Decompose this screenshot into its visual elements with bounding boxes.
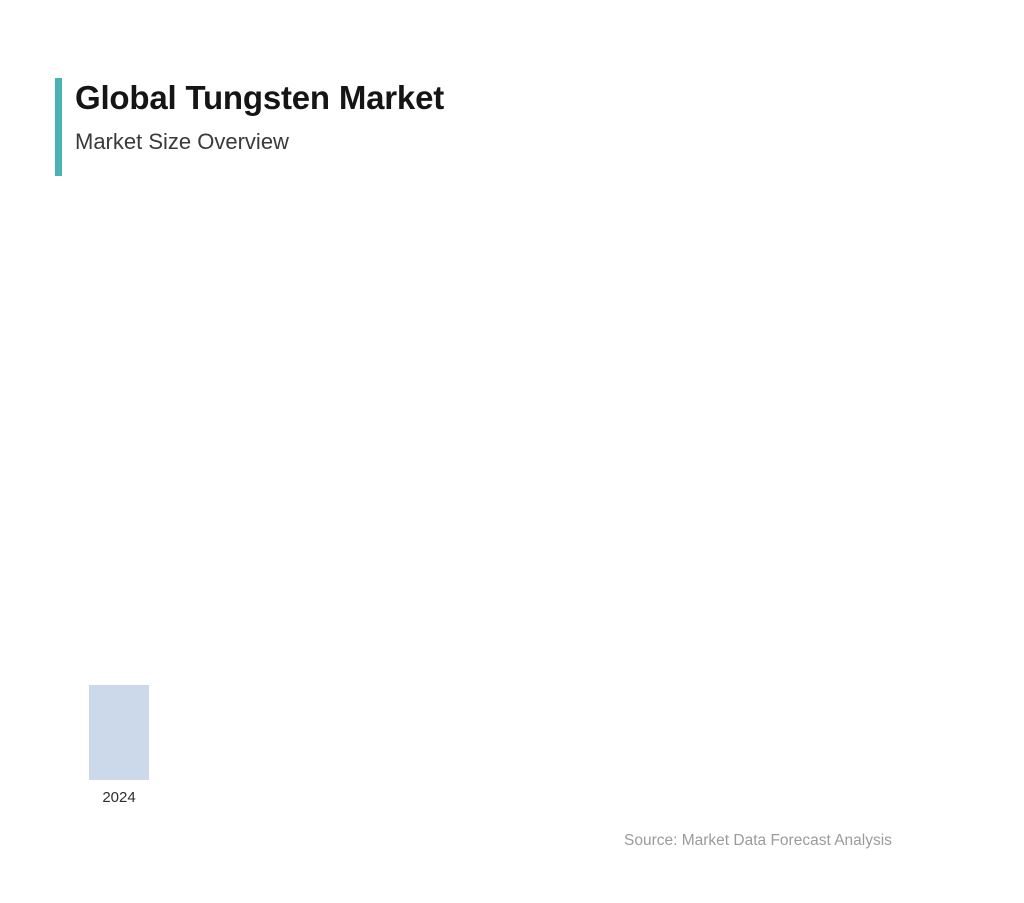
chart-canvas: Global Tungsten Market Market Size Overv… (0, 0, 1024, 903)
page-subtitle: Market Size Overview (75, 128, 444, 156)
source-note: Source: Market Data Forecast Analysis (624, 831, 892, 851)
accent-bar (55, 78, 62, 176)
bar-plot: 2024 (60, 200, 960, 780)
page-title: Global Tungsten Market (75, 78, 444, 118)
bar-2024[interactable] (89, 685, 149, 780)
chart-header: Global Tungsten Market Market Size Overv… (55, 78, 444, 176)
bar-group-2024 (89, 200, 149, 780)
header-text-block: Global Tungsten Market Market Size Overv… (75, 78, 444, 176)
chart-plot-area: 2024 (0, 200, 1024, 820)
x-axis-tick-label-2024: 2024 (89, 788, 149, 808)
